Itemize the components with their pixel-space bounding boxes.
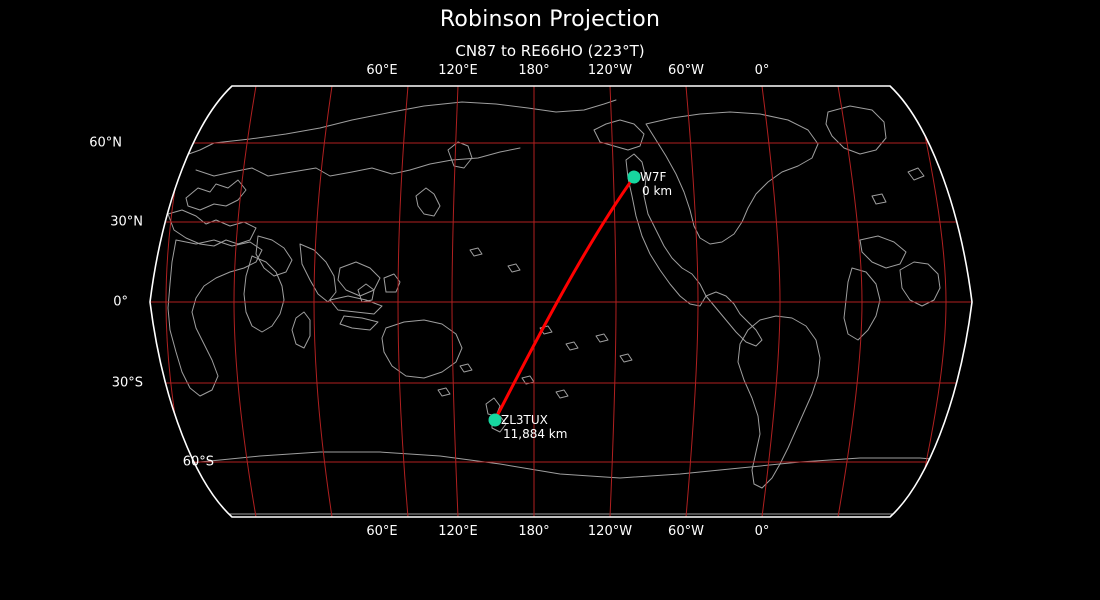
station-distance: 0 km [640, 184, 672, 198]
lat-label: 0° [36, 295, 128, 310]
lon-label-bottom: 120°E [438, 524, 478, 539]
lon-label-bottom: 60°W [668, 524, 704, 539]
lon-label-top: 180° [518, 63, 549, 78]
lat-label: 30°S [51, 376, 143, 391]
station-label-destination: ZL3TUX 11,884 km [501, 413, 567, 441]
robinson-projection-map [0, 0, 1100, 600]
lon-label-bottom: 60°E [366, 524, 397, 539]
lon-label-top: 0° [755, 63, 770, 78]
lat-label: 60°S [122, 455, 214, 470]
station-distance: 11,884 km [501, 427, 567, 441]
station-label-origin: W7F 0 km [640, 170, 672, 198]
lon-label-top: 120°W [588, 63, 632, 78]
lat-label: 30°N [51, 215, 143, 230]
lon-label-top: 120°E [438, 63, 478, 78]
marker-origin[interactable] [628, 171, 641, 184]
lon-label-top: 60°E [366, 63, 397, 78]
lon-label-bottom: 120°W [588, 524, 632, 539]
lon-label-bottom: 0° [755, 524, 770, 539]
lon-label-bottom: 180° [518, 524, 549, 539]
station-callsign: ZL3TUX [501, 413, 548, 427]
map-canvas: Robinson Projection CN87 to RE66HO (223°… [0, 0, 1100, 600]
lon-label-top: 60°W [668, 63, 704, 78]
station-callsign: W7F [640, 170, 666, 184]
lat-label: 60°N [30, 136, 122, 151]
marker-destination[interactable] [489, 414, 502, 427]
